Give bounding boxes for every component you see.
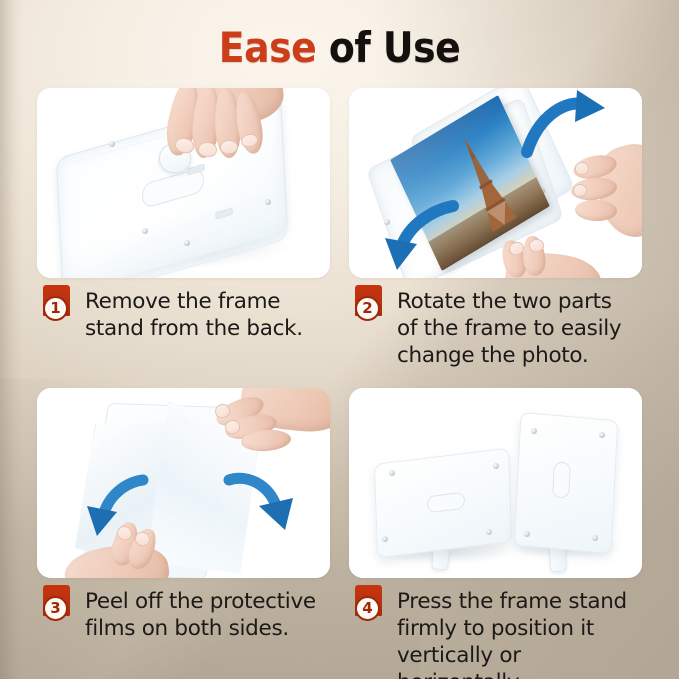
step-2-caption: Rotate the two parts of the frame to eas… <box>397 288 642 369</box>
step-3-caption: Peel off the protective films on both si… <box>85 588 330 642</box>
page-title-accent: Ease <box>219 23 316 72</box>
frame-corner-dot <box>382 536 388 542</box>
step-2-image-card <box>349 88 642 278</box>
frame-corner-dot <box>184 240 190 246</box>
step-1-caption-row: 1 Remove the frame stand from the back. <box>37 288 330 348</box>
badge-number: 2 <box>355 296 380 321</box>
step-3-badge: 3 <box>43 585 70 625</box>
scene-peel-films <box>37 388 330 578</box>
step-4-image-card <box>349 388 642 578</box>
step-3-image-card <box>37 388 330 578</box>
step-3-caption-row: 3 Peel off the protective films on both … <box>37 588 330 648</box>
frame-corner-dot <box>524 531 530 537</box>
curved-arrow-down-right-icon <box>223 468 297 534</box>
badge-number: 1 <box>43 296 68 321</box>
scene-remove-stand <box>37 88 330 278</box>
frame-corner-dot <box>265 199 271 205</box>
step-2-caption-row: 2 Rotate the two parts of the frame to e… <box>349 288 642 369</box>
stand-slot-vertical <box>552 462 571 499</box>
step-1-caption: Remove the frame stand from the back. <box>85 288 330 342</box>
step-2: 2 Rotate the two parts of the frame to e… <box>349 88 642 369</box>
badge-number: 4 <box>355 596 380 621</box>
page-title: Ease of Use <box>0 24 679 72</box>
step-4: 4 Press the frame stand firmly to positi… <box>349 388 642 679</box>
badge-number: 3 <box>43 596 68 621</box>
page-title-rest: of Use <box>316 23 460 72</box>
frame-corner-dot <box>599 432 605 438</box>
frame-corner-dot <box>486 529 492 535</box>
hand-holding-bottom-panel <box>497 238 607 278</box>
frame-corner-dot <box>142 228 148 234</box>
hand-peeling-left-film <box>71 520 191 578</box>
step-2-badge: 2 <box>355 285 382 325</box>
frame-corner-dot <box>531 428 537 434</box>
hand-peeling-right-film <box>207 388 330 464</box>
frame-corner-dot <box>592 535 598 541</box>
step-1: 1 Remove the frame stand from the back. <box>37 88 330 348</box>
curved-arrow-down-left-icon <box>383 200 459 274</box>
scene-frames-standing <box>349 388 642 578</box>
step-4-badge: 4 <box>355 585 382 625</box>
scene-rotate-parts <box>349 88 642 278</box>
hand-pinching-stand <box>155 88 285 178</box>
step-4-caption-row: 4 Press the frame stand firmly to positi… <box>349 588 642 679</box>
step-1-badge: 1 <box>43 285 70 325</box>
frame-corner-dot <box>109 141 115 147</box>
step-3: 3 Peel off the protective films on both … <box>37 388 330 648</box>
frame-corner-dot <box>389 470 395 476</box>
frame-corner-dot <box>493 463 499 469</box>
step-4-caption: Press the frame stand firmly to position… <box>397 588 642 679</box>
step-1-image-card <box>37 88 330 278</box>
hand-holding-right-panel <box>577 140 642 250</box>
